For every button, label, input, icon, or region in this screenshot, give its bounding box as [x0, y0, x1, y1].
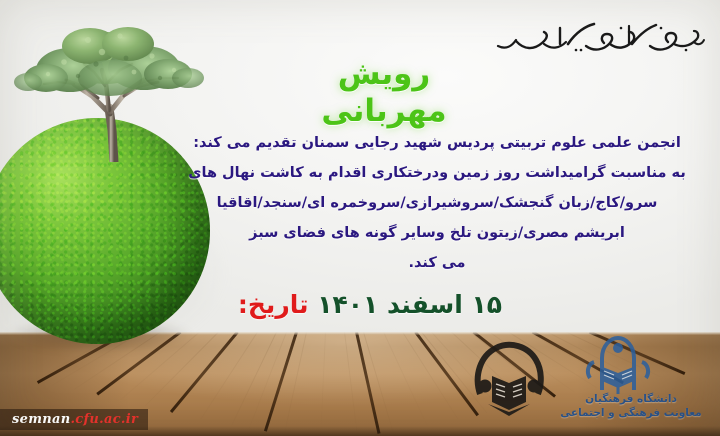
url-prefix: semnan — [12, 412, 70, 427]
body-line-5: می کند. — [172, 248, 702, 278]
page-title: رویش مهربانی — [276, 56, 492, 130]
event-date-value: ۱۵ اسفند ۱۴۰۱ — [317, 290, 502, 319]
farhangian-university-logo — [572, 332, 664, 396]
university-logo-caption: دانشگاه فرهنگیان معاونت فرهنگی و اجتماعی — [542, 392, 720, 420]
wood-grain-line — [344, 332, 358, 435]
university-department: معاونت فرهنگی و اجتماعی — [542, 406, 720, 420]
university-name: دانشگاه فرهنگیان — [542, 392, 720, 406]
event-date-label: تاریخ: — [238, 290, 309, 319]
event-date: ۱۵ اسفند ۱۴۰۱ تاریخ: — [238, 292, 502, 317]
body-line-2: به مناسبت گرامیداشت روز زمین ودرختکاری ا… — [172, 158, 702, 188]
wood-grain-line — [320, 332, 326, 436]
body-line-3: سرو/کاج/زبان گنجشک/سروشیرازی/سروخمره ای/… — [172, 188, 702, 218]
bismillah-calligraphy — [490, 16, 706, 62]
url-suffix: .cfu.ac.ir — [70, 412, 138, 427]
open-book-arch-logo — [468, 336, 550, 418]
wood-grain-line — [383, 332, 428, 426]
poster-canvas: رویش مهربانی انجمن علمی علوم تربیتی پردی… — [0, 0, 720, 436]
body-text-block: انجمن علمی علوم تربیتی پردیس شهید رجایی … — [172, 128, 702, 278]
body-line-4: ابریشم مصری/زیتون تلخ وسایر گونه های فضا… — [172, 218, 702, 248]
body-line-1: انجمن علمی علوم تربیتی پردیس شهید رجایی … — [172, 128, 702, 158]
wood-grain-line — [284, 332, 307, 434]
site-url-watermark[interactable]: semnan.cfu.ac.ir — [0, 409, 148, 430]
